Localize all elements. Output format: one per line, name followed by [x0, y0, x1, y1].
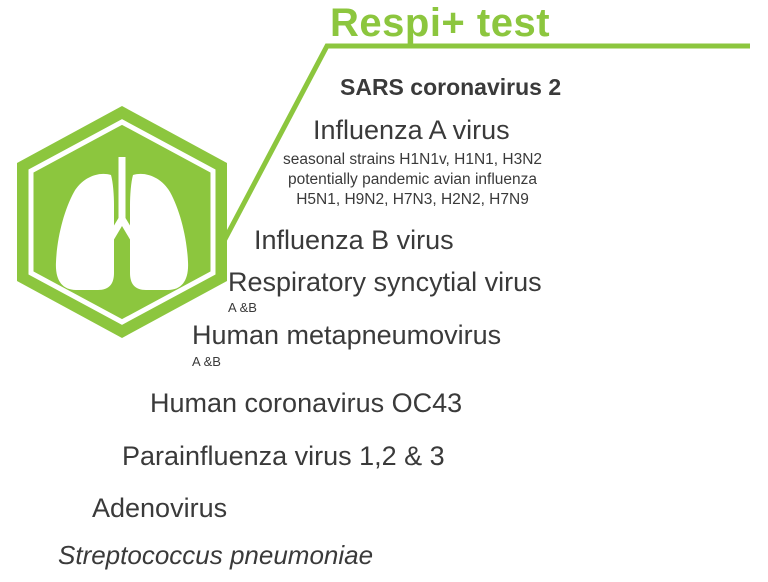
list-item-streptococcus-pneumoniae: Streptococcus pneumoniae: [58, 542, 373, 568]
list-item-parainfluenza-virus: Parainfluenza virus 1,2 & 3: [122, 443, 445, 470]
lungs-hexagon-logo: [6, 100, 238, 344]
list-item-influenza-a-virus-details: seasonal strains H1N1v, H1N1, H3N2 poten…: [283, 150, 542, 209]
list-item-respiratory-syncytial-virus: Respiratory syncytial virus: [228, 269, 542, 296]
list-item-human-coronavirus-oc43: Human coronavirus OC43: [150, 390, 462, 417]
list-item-respiratory-syncytial-virus-details: A &B: [228, 300, 257, 317]
influenza-a-sub-line-1: seasonal strains H1N1v, H1N1, H3N2: [283, 150, 542, 170]
list-item-human-metapneumovirus: Human metapneumovirus: [192, 322, 501, 349]
page-title: Respi+ test: [330, 2, 550, 44]
list-item-sars-coronavirus-2: SARS coronavirus 2: [340, 76, 561, 99]
list-item-influenza-a-virus: Influenza A virus: [313, 117, 510, 144]
respi-test-infographic: Respi+ test SARS coronavirus 2 Influenza…: [0, 0, 768, 582]
list-item-human-metapneumovirus-details: A &B: [192, 354, 221, 371]
list-item-adenovirus: Adenovirus: [92, 495, 227, 522]
influenza-a-sub-line-3: H5N1, H9N2, H7N3, H2N2, H7N9: [283, 190, 542, 210]
list-item-influenza-b-virus: Influenza B virus: [254, 227, 454, 254]
influenza-a-sub-line-2: potentially pandemic avian influenza: [283, 170, 542, 190]
